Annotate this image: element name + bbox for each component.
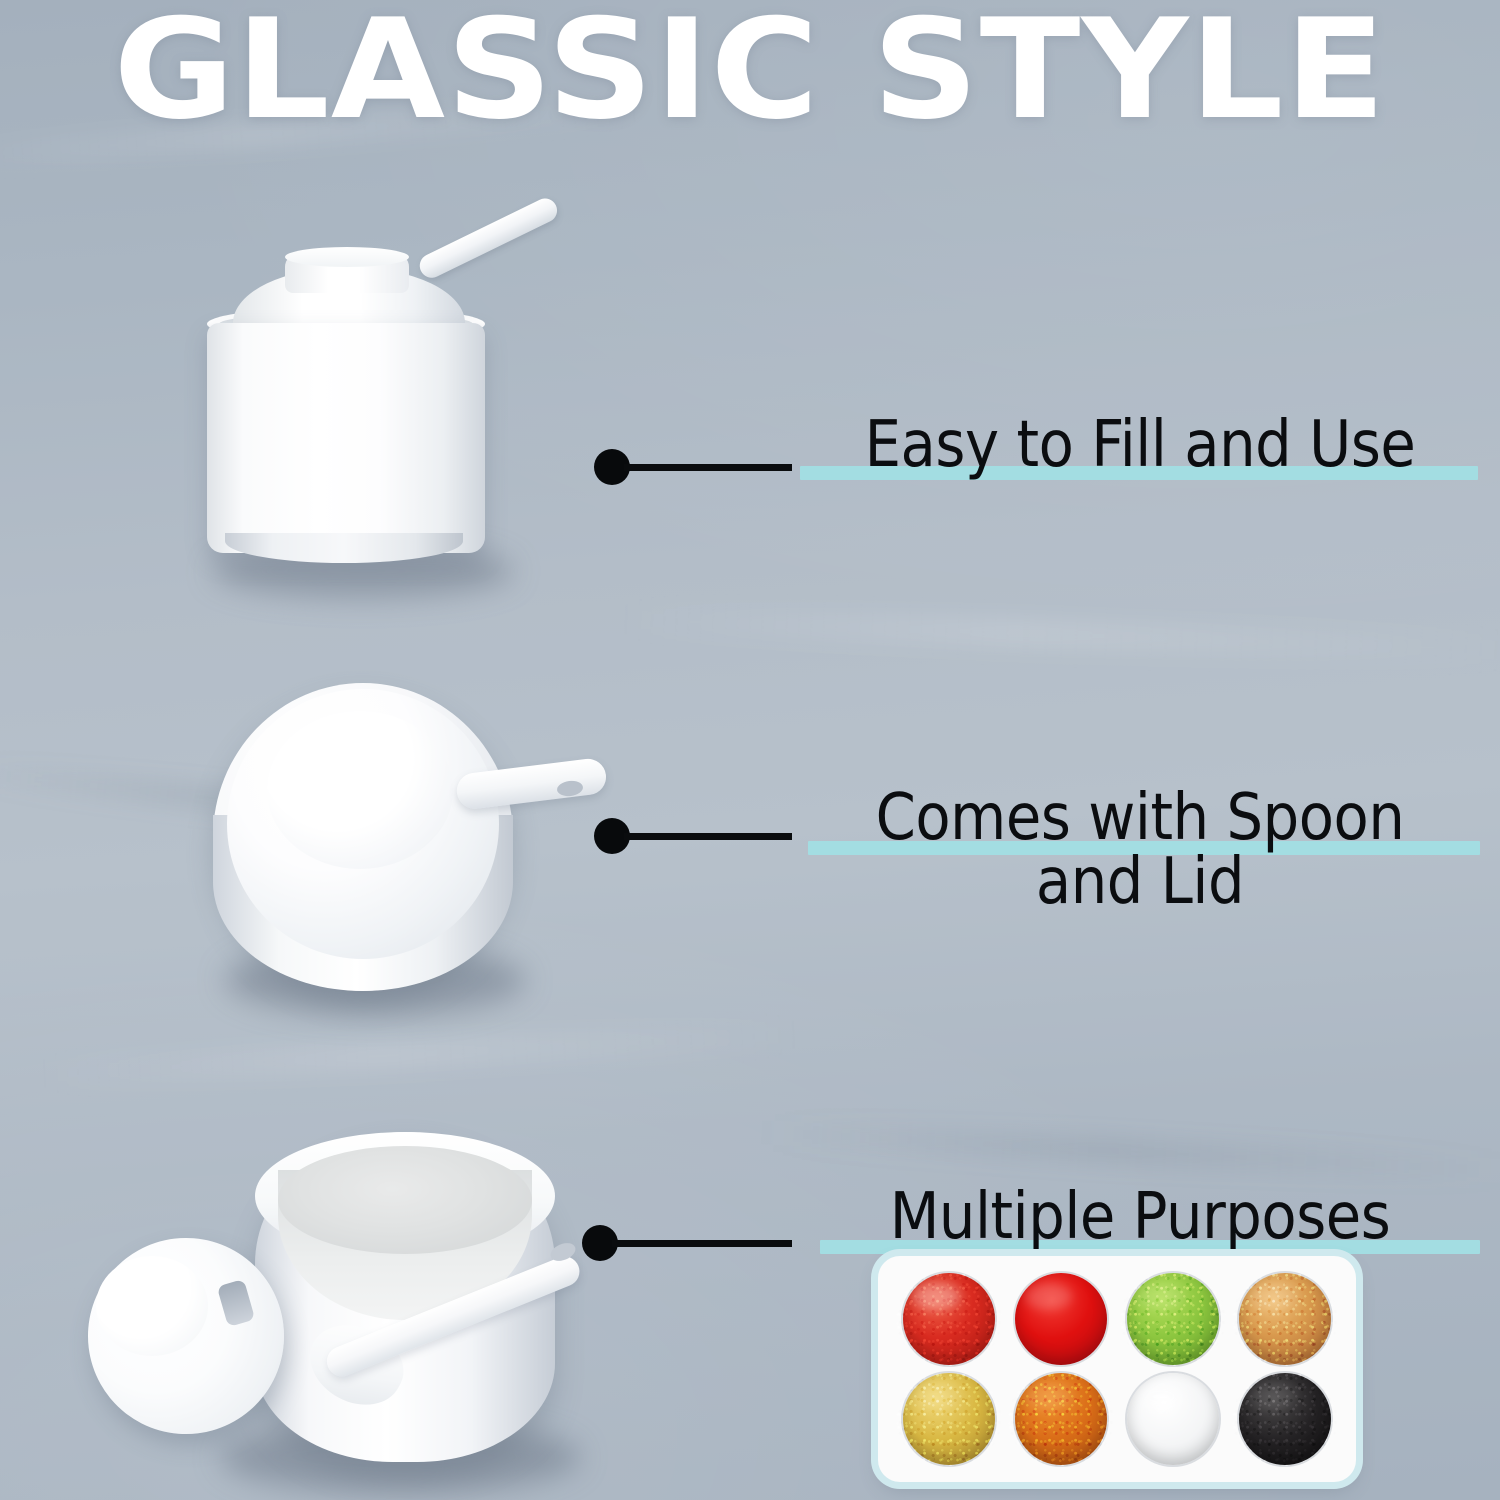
callout-label: Multiple Purposes (825, 1184, 1455, 1250)
callout-leader-line (624, 833, 792, 840)
product-sugar-bowl-open (70, 1110, 630, 1500)
spoon-handle (416, 194, 561, 281)
page-title: GLASSIC STYLE (0, 6, 1500, 134)
lid-knob-top (285, 247, 409, 267)
jar-interior (278, 1146, 532, 1254)
jar-body (207, 323, 485, 553)
lid-knob (96, 1256, 208, 1356)
cloth-fold (40, 1020, 800, 1088)
spice-bowl-salt (1120, 1372, 1226, 1466)
callout-leader-line (612, 1240, 792, 1247)
cloth-fold (760, 1120, 1500, 1184)
cloth-fold (620, 604, 1500, 665)
spice-bowl-red-sauce (1008, 1272, 1114, 1366)
callout-label: Comes with Spoon and Lid (816, 786, 1464, 914)
callout-leader-line (624, 464, 792, 471)
spice-bowl-chili-powder (1008, 1372, 1114, 1466)
spice-bowl-mustard-seeds (896, 1372, 1002, 1466)
spice-bowl-matcha-powder (1120, 1272, 1226, 1366)
lid-knob (267, 711, 453, 869)
spice-bowl-chopped-chili (896, 1272, 1002, 1366)
spice-bowl-dried-chili-flakes (1232, 1272, 1338, 1366)
product-sugar-bowl-lid-on (205, 665, 625, 1025)
spice-sampler-tray (878, 1256, 1356, 1482)
product-sugar-bowl-closed (185, 245, 585, 595)
spice-bowl-black-sesame (1232, 1372, 1338, 1466)
infographic-canvas: GLASSIC STYLE (0, 0, 1500, 1500)
callout-label: Easy to Fill and Use (816, 412, 1464, 478)
